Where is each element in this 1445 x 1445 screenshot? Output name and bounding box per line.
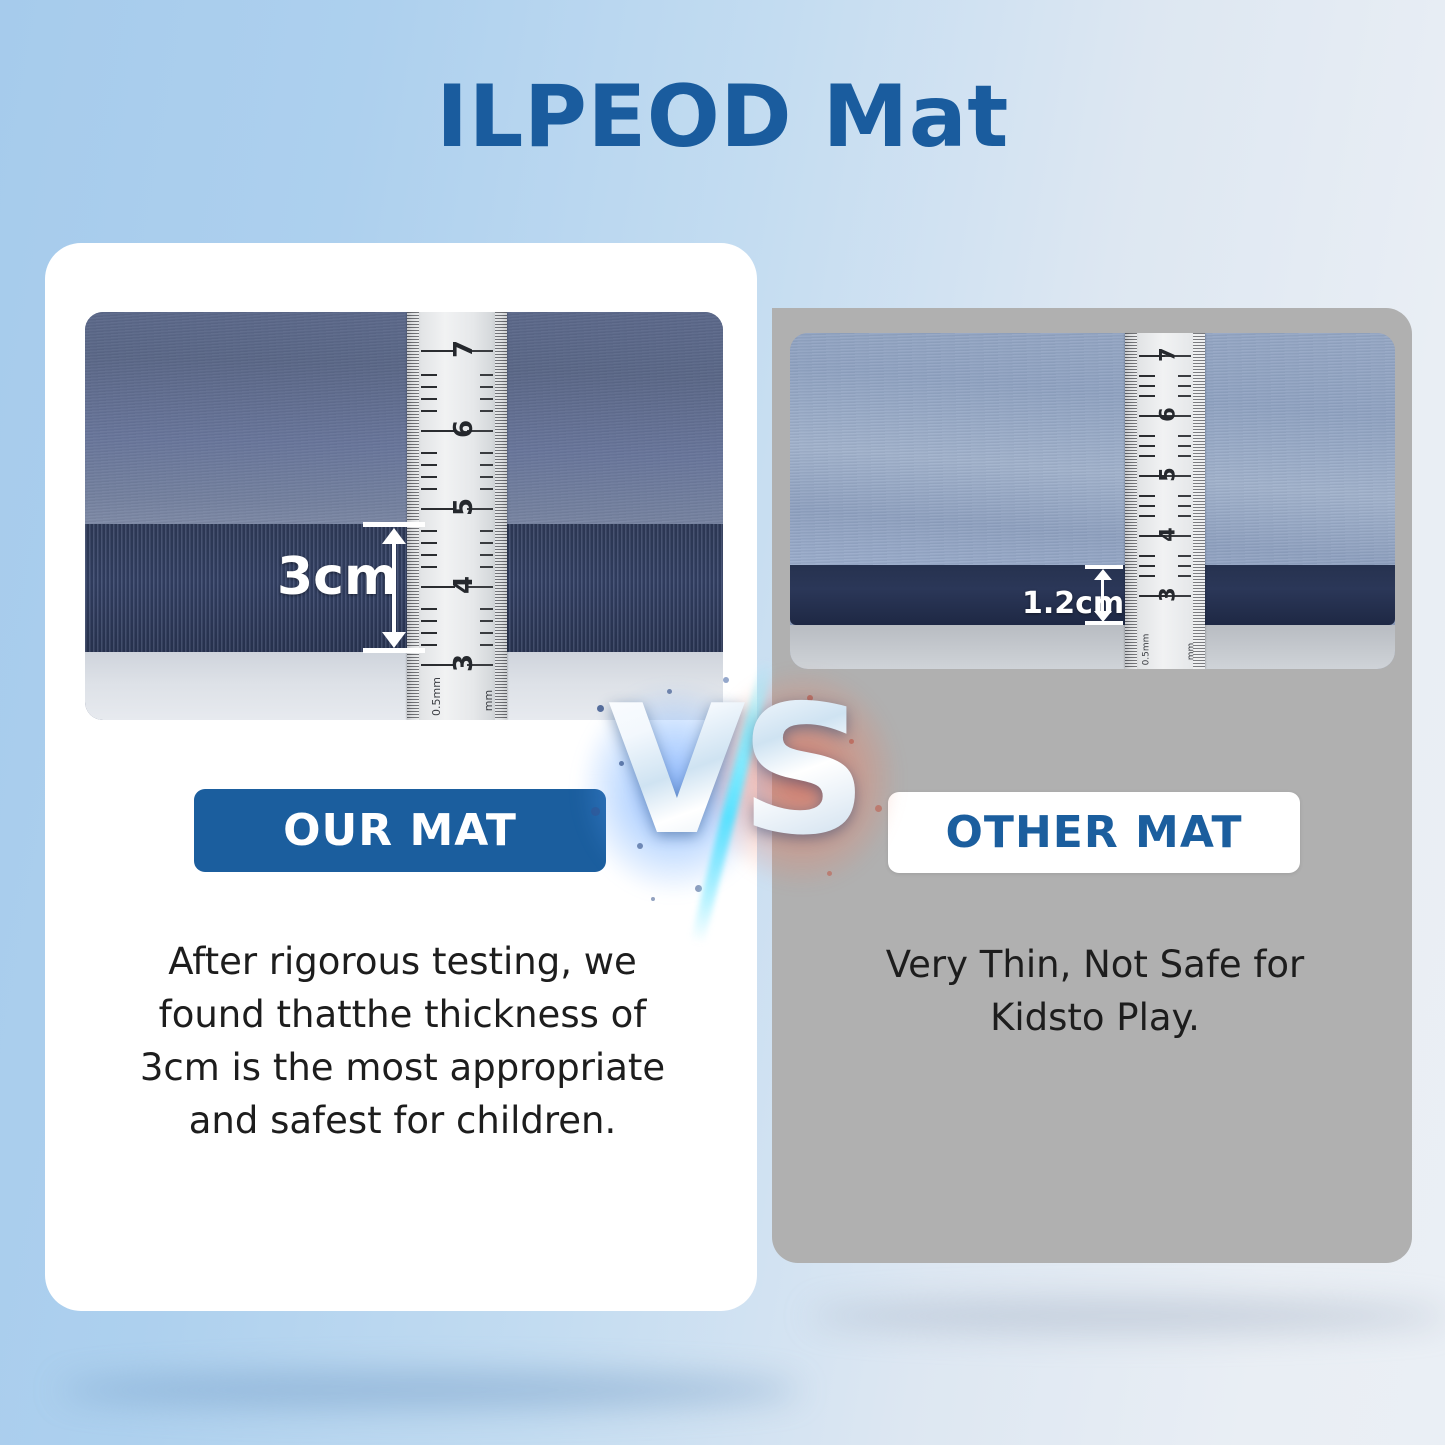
our-ruler-scale-label: mm	[483, 690, 494, 711]
our-measure-bottom-cap	[363, 648, 425, 653]
our-mat-description: After rigorous testing, we found thatthe…	[130, 935, 675, 1147]
our-ruler-precision-label: 0.5mm	[431, 677, 442, 716]
our-ruler-number-3: 3	[451, 650, 477, 676]
our-mat-photo: 7 6 5 4	[85, 312, 723, 720]
our-ruler-number-5: 5	[451, 494, 477, 520]
other-ruler-icon: 7 6 5 4 3 0.5mm mm	[1125, 333, 1205, 669]
our-thickness-label: 3cm	[277, 549, 398, 605]
other-measure-bottom-cap	[1085, 621, 1123, 625]
other-mat-floor	[790, 625, 1395, 669]
other-ruler-number-3: 3	[1158, 584, 1179, 606]
other-ruler-number-5: 5	[1158, 464, 1179, 486]
our-mat-badge[interactable]: OUR MAT	[194, 789, 606, 872]
our-ruler-icon: 7 6 5 4	[407, 312, 507, 720]
our-mat-floor	[85, 652, 723, 720]
our-card-shadow	[60, 1372, 800, 1408]
our-measure-arrow-stem	[392, 538, 396, 636]
our-measure-top-cap	[363, 522, 425, 527]
our-mat-top-surface	[85, 312, 723, 524]
other-ruler-number-6: 6	[1158, 404, 1179, 426]
other-ruler-precision-label: 0.5mm	[1141, 634, 1152, 666]
our-ruler-number-4: 4	[451, 572, 477, 598]
other-mat-photo: 7 6 5 4 3 0.5mm mm	[790, 333, 1395, 669]
other-measure-arrow-stem	[1101, 577, 1104, 615]
other-ruler-number-7: 7	[1158, 344, 1179, 366]
page-title: ILPEOD Mat	[0, 62, 1445, 172]
our-measure-arrow-down	[382, 632, 406, 648]
other-ruler-scale-label: mm	[1187, 643, 1198, 661]
other-mat-top-surface	[790, 333, 1395, 565]
our-ruler-number-6: 6	[451, 416, 477, 442]
our-ruler-number-7: 7	[451, 336, 477, 362]
other-ruler-number-4: 4	[1158, 524, 1179, 546]
other-mat-description: Very Thin, Not Safe for Kidsto Play.	[845, 938, 1345, 1044]
other-panel-shadow	[810, 1300, 1445, 1332]
other-mat-badge[interactable]: OTHER MAT	[888, 792, 1300, 873]
infographic-root: ILPEOD Mat 7 6 5	[0, 0, 1445, 1445]
